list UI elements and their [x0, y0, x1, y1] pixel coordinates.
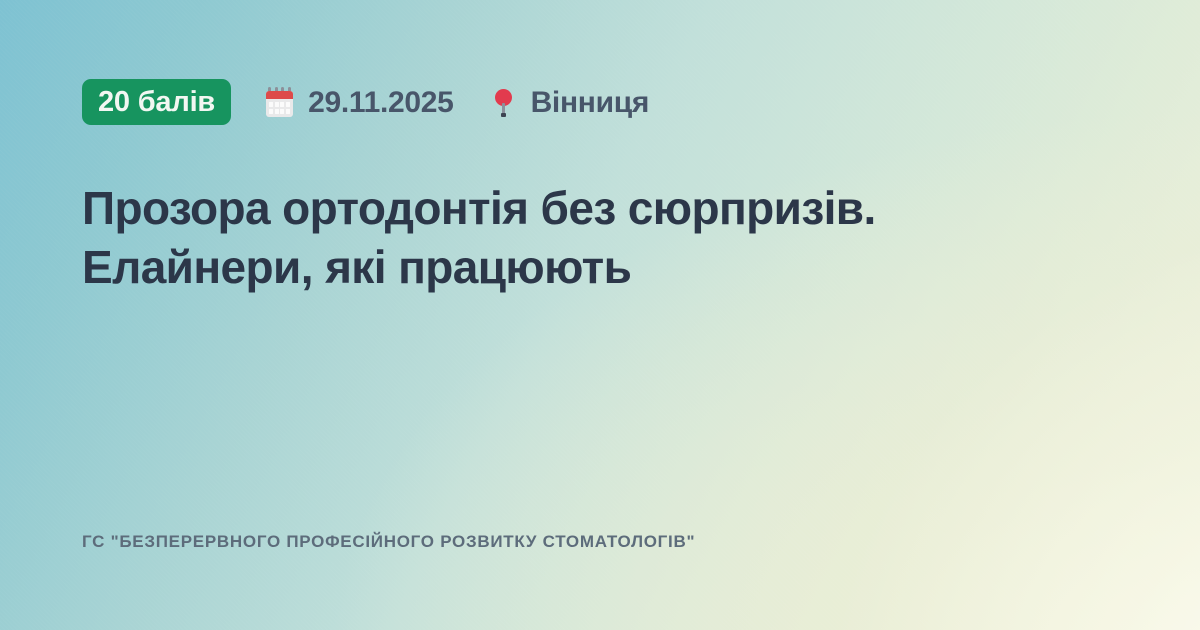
- organizer-name: ГС "БЕЗПЕРЕРВНОГО ПРОФЕСІЙНОГО РОЗВИТКУ …: [82, 532, 695, 552]
- event-date: 29.11.2025: [265, 86, 454, 118]
- map-pin-icon: [488, 86, 518, 118]
- event-title: Прозора ортодонтія без сюрпризів. Елайне…: [82, 179, 1092, 298]
- event-date-label: 29.11.2025: [308, 88, 454, 118]
- event-title-line-2: Елайнери, які працюють: [82, 238, 1092, 297]
- points-badge: 20 балів: [82, 79, 231, 125]
- event-announcement-card: 20 балів 29.11.2025 Вінниця: [0, 0, 1200, 630]
- event-title-line-1: Прозора ортодонтія без сюрпризів.: [82, 179, 1092, 238]
- event-location-label: Вінниця: [531, 88, 650, 118]
- calendar-icon: [265, 86, 295, 118]
- event-meta-row: 20 балів 29.11.2025 Вінниця: [82, 78, 1120, 126]
- map-pin-tip: [501, 113, 506, 117]
- calendar-header-bar: [266, 91, 293, 99]
- calendar-day-grid: [269, 102, 290, 114]
- event-location: Вінниця: [488, 86, 650, 118]
